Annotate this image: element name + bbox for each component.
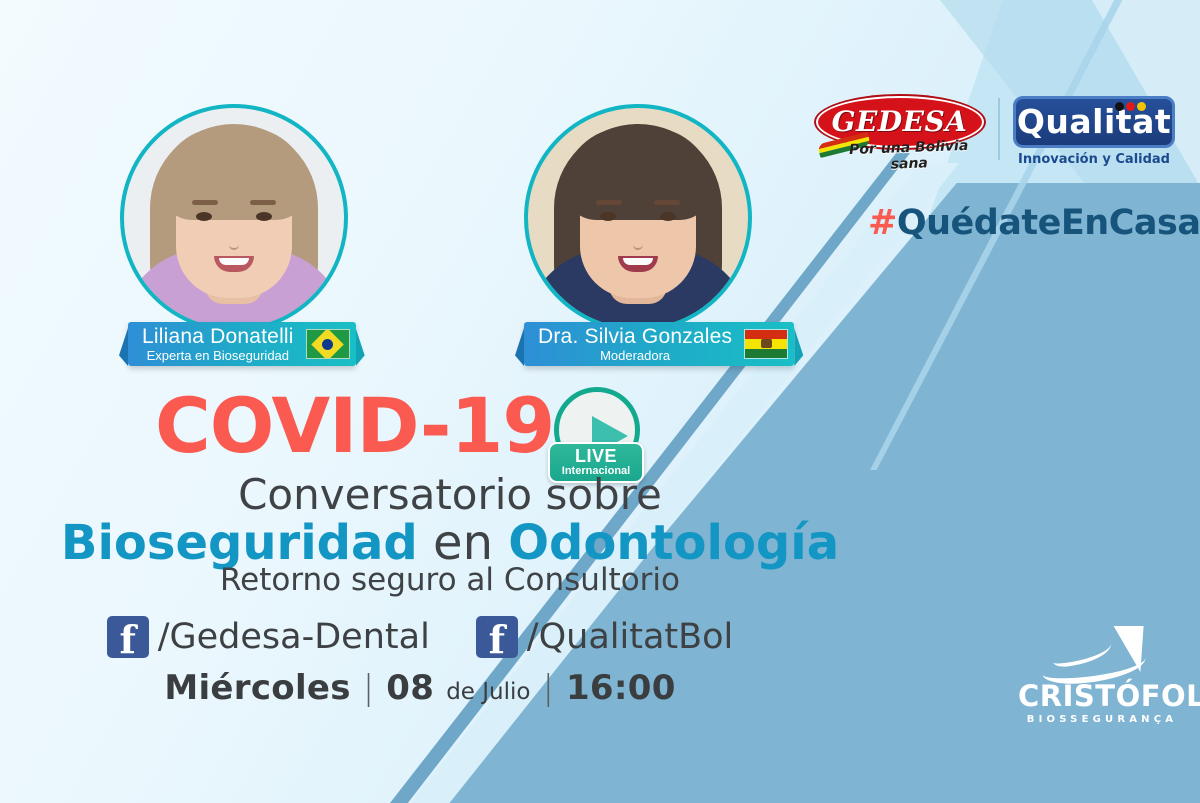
- speaker-name: Dra. Silvia Gonzales: [538, 326, 732, 347]
- nose-shape: [229, 228, 239, 250]
- dot-yellow: [1137, 102, 1146, 111]
- eyebrow-right: [250, 200, 276, 205]
- speaker-portrait-liliana: [120, 104, 348, 332]
- gedesa-tagline: Por una Bolivia sana: [833, 137, 984, 174]
- nose-shape: [633, 228, 643, 250]
- dot-red: [1126, 102, 1135, 111]
- eye-right: [256, 212, 272, 221]
- eyebrow-right: [654, 200, 680, 205]
- eye-left: [196, 212, 212, 221]
- flag-coat-of-arms: [761, 339, 772, 348]
- event-month: de Julio: [446, 679, 530, 705]
- hash-symbol: #: [868, 203, 897, 243]
- event-schedule: Miércoles | 08 de Julio | 16:00: [0, 668, 840, 708]
- social-link-qualitatbol[interactable]: /QualitatBol: [476, 616, 733, 658]
- qualitat-tagline: Innovación y Calidad: [1013, 152, 1175, 167]
- campaign-hashtag: #QuédateEnCasa: [868, 203, 1200, 243]
- facebook-icon: [476, 616, 518, 658]
- social-handle: /QualitatBol: [527, 617, 733, 657]
- speaker-name-banner-liliana: Liliana Donatelli Experta en Biosegurida…: [128, 322, 356, 366]
- event-day: Miércoles: [164, 668, 350, 708]
- schedule-separator-2: |: [542, 668, 553, 708]
- qualitat-logo: Qualitat Innovación y Calidad: [1013, 96, 1175, 166]
- bolivia-flag-icon: [744, 329, 788, 359]
- hashtag-text: QuédateEnCasa: [897, 203, 1200, 243]
- cristofoli-wordmark: CRISTÓFOLI: [1018, 682, 1186, 711]
- eyebrow-left: [192, 200, 218, 205]
- flag-stripe-red: [745, 330, 787, 339]
- speaker-role: Moderadora: [538, 349, 732, 362]
- hair-front-shape: [564, 128, 712, 220]
- eye-left: [600, 212, 616, 221]
- event-date-number: 08: [386, 668, 434, 708]
- speaker-role: Experta en Bioseguridad: [142, 349, 294, 362]
- speaker-name-text: Dra. Silvia Gonzales Moderadora: [538, 326, 732, 363]
- subtitle-line-3: Retorno seguro al Consultorio: [0, 562, 900, 598]
- gedesa-wordmark: GEDESA: [812, 105, 987, 138]
- eyebrow-left: [596, 200, 622, 205]
- qualitat-plate-shape: Qualitat: [1013, 96, 1175, 148]
- avatar: [120, 104, 348, 332]
- social-handle: /Gedesa-Dental: [158, 617, 430, 657]
- gedesa-logo: GEDESA Por una Bolivia sana: [812, 96, 987, 168]
- eye-right: [660, 212, 676, 221]
- teeth-shape: [623, 258, 653, 265]
- qualitat-wordmark: Qualitat: [1016, 105, 1172, 138]
- cristofoli-tagline: BIOSSEGURANÇA: [1018, 714, 1186, 725]
- speaker-name: Liliana Donatelli: [142, 326, 294, 347]
- logo-divider: [998, 98, 1000, 160]
- cristofoli-logo: CRISTÓFOLI BIOSSEGURANÇA: [1018, 624, 1186, 725]
- schedule-separator-1: |: [363, 668, 374, 708]
- flag-stripe-yellow: [745, 339, 787, 348]
- dot-black: [1115, 102, 1124, 111]
- brazil-flag-icon: [306, 329, 350, 359]
- social-links-row: /Gedesa-Dental /QualitatBol: [0, 616, 840, 658]
- subtitle-line-1: Conversatorio sobre: [0, 470, 900, 519]
- avatar: [524, 104, 752, 332]
- page-title: COVID-19: [155, 388, 554, 464]
- portrait-photo: [528, 108, 748, 328]
- social-link-gedesa-dental[interactable]: /Gedesa-Dental: [107, 616, 430, 658]
- speaker-portrait-silvia: [524, 104, 752, 332]
- flag-stripe-green: [745, 349, 787, 358]
- event-time: 16:00: [566, 668, 676, 708]
- live-stream-badge: LIVE Internacional: [548, 387, 644, 483]
- qualitat-dots-icon: [1115, 102, 1146, 111]
- sailboat-icon: [1018, 624, 1186, 682]
- live-label: LIVE: [550, 447, 642, 465]
- hair-front-shape: [160, 128, 308, 220]
- speaker-name-text: Liliana Donatelli Experta en Biosegurida…: [142, 326, 294, 363]
- promotional-flyer: Liliana Donatelli Experta en Biosegurida…: [0, 0, 1200, 803]
- teeth-shape: [219, 258, 249, 265]
- speaker-name-banner-silvia: Dra. Silvia Gonzales Moderadora: [524, 322, 794, 366]
- facebook-icon: [107, 616, 149, 658]
- portrait-photo: [124, 108, 344, 328]
- flag-globe: [322, 339, 333, 350]
